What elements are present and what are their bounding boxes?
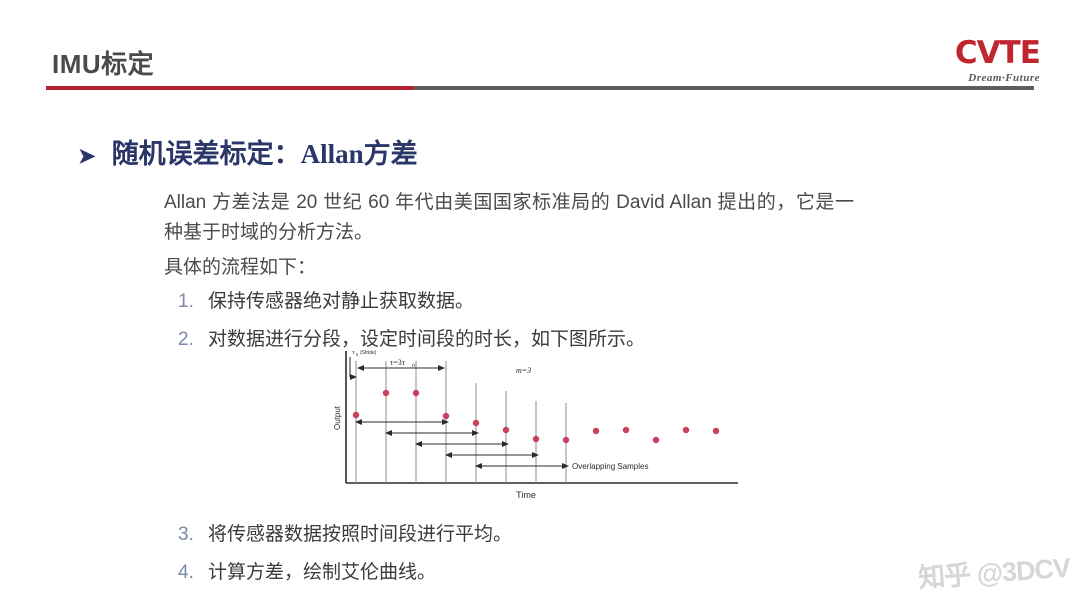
figure-stride-marker: [350, 357, 356, 377]
list-item-number: 1.: [178, 291, 208, 313]
svg-text:0: 0: [356, 352, 359, 357]
allan-variance-figure: τ 0 (Stride) τ=3τ 0 m=3 Overlapping Samp…: [330, 343, 742, 508]
section-heading-label: 随机误差标定：Allan方差: [112, 139, 418, 169]
svg-text:(Stride): (Stride): [360, 350, 377, 356]
list-item: 1.保持传感器绝对静止获取数据。: [178, 286, 474, 313]
list-item: 4.计算方差，绘制艾伦曲线。: [178, 557, 436, 584]
svg-text:0: 0: [412, 363, 415, 369]
steps-intro-label: 具体的流程如下：: [164, 252, 316, 279]
figure-tau-label: τ=3τ: [390, 358, 406, 367]
figure-overlap-label: Overlapping Samples: [572, 462, 648, 471]
figure-xlabel: Time: [516, 490, 536, 500]
list-item-label: 保持传感器绝对静止获取数据。: [208, 291, 474, 312]
section-heading: ➤随机误差标定：Allan方差: [78, 132, 418, 171]
slide-header: IMU标定 CVTE Dream·Future: [0, 0, 1080, 100]
list-item-number: 4.: [178, 562, 208, 584]
page-title: IMU标定: [52, 44, 154, 81]
brand-logo: CVTE Dream·Future: [920, 38, 1040, 84]
figure-ylabel: Output: [333, 405, 342, 430]
arrow-bullet-icon: ➤: [78, 144, 96, 169]
figure-m-label: m=3: [516, 366, 531, 375]
header-divider-red-segment: [46, 86, 418, 90]
list-item-label: 将传感器数据按照时间段进行平均。: [208, 524, 512, 545]
intro-paragraph: Allan 方差法是 20 世纪 60 年代由美国国家标准局的 David Al…: [164, 188, 854, 248]
logo-wordmark: CVTE: [920, 38, 1040, 69]
list-item: 3.将传感器数据按照时间段进行平均。: [178, 519, 512, 546]
watermark: 知乎 @3DCV: [917, 546, 1071, 595]
header-divider: [46, 86, 1034, 90]
list-item-number: 3.: [178, 524, 208, 546]
list-item-label: 计算方差，绘制艾伦曲线。: [208, 562, 436, 583]
header-divider-gray-segment: [414, 86, 1034, 90]
logo-tagline: Dream·Future: [920, 72, 1040, 84]
list-item-number: 2.: [178, 329, 208, 351]
figure-axes: [346, 351, 738, 483]
figure-stride-label: τ: [352, 349, 355, 356]
